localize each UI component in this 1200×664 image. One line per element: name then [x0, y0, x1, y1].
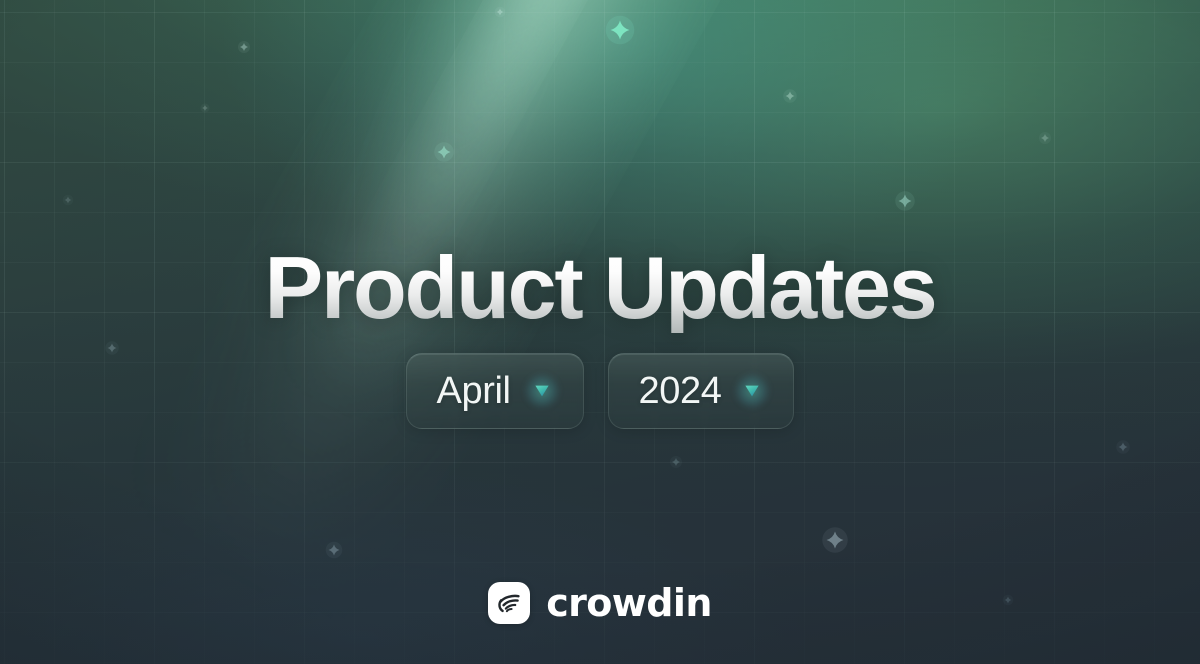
page-title: Product Updates [0, 243, 1200, 333]
chevron-down-icon[interactable] [525, 374, 559, 408]
month-selector-label: April [437, 372, 511, 410]
crowdin-logo-icon [488, 582, 530, 624]
chevron-down-icon[interactable] [735, 374, 769, 408]
month-selector[interactable]: April [406, 353, 584, 429]
banner-content: Product Updates April [0, 0, 1200, 664]
crowdin-wordmark: crowdin [546, 584, 712, 622]
crowdin-logo[interactable]: crowdin [0, 582, 1200, 624]
date-selector-group: April 2024 [0, 353, 1200, 429]
year-selector-label: 2024 [639, 372, 722, 410]
year-selector[interactable]: 2024 [608, 353, 795, 429]
product-updates-banner: Product Updates April [0, 0, 1200, 664]
